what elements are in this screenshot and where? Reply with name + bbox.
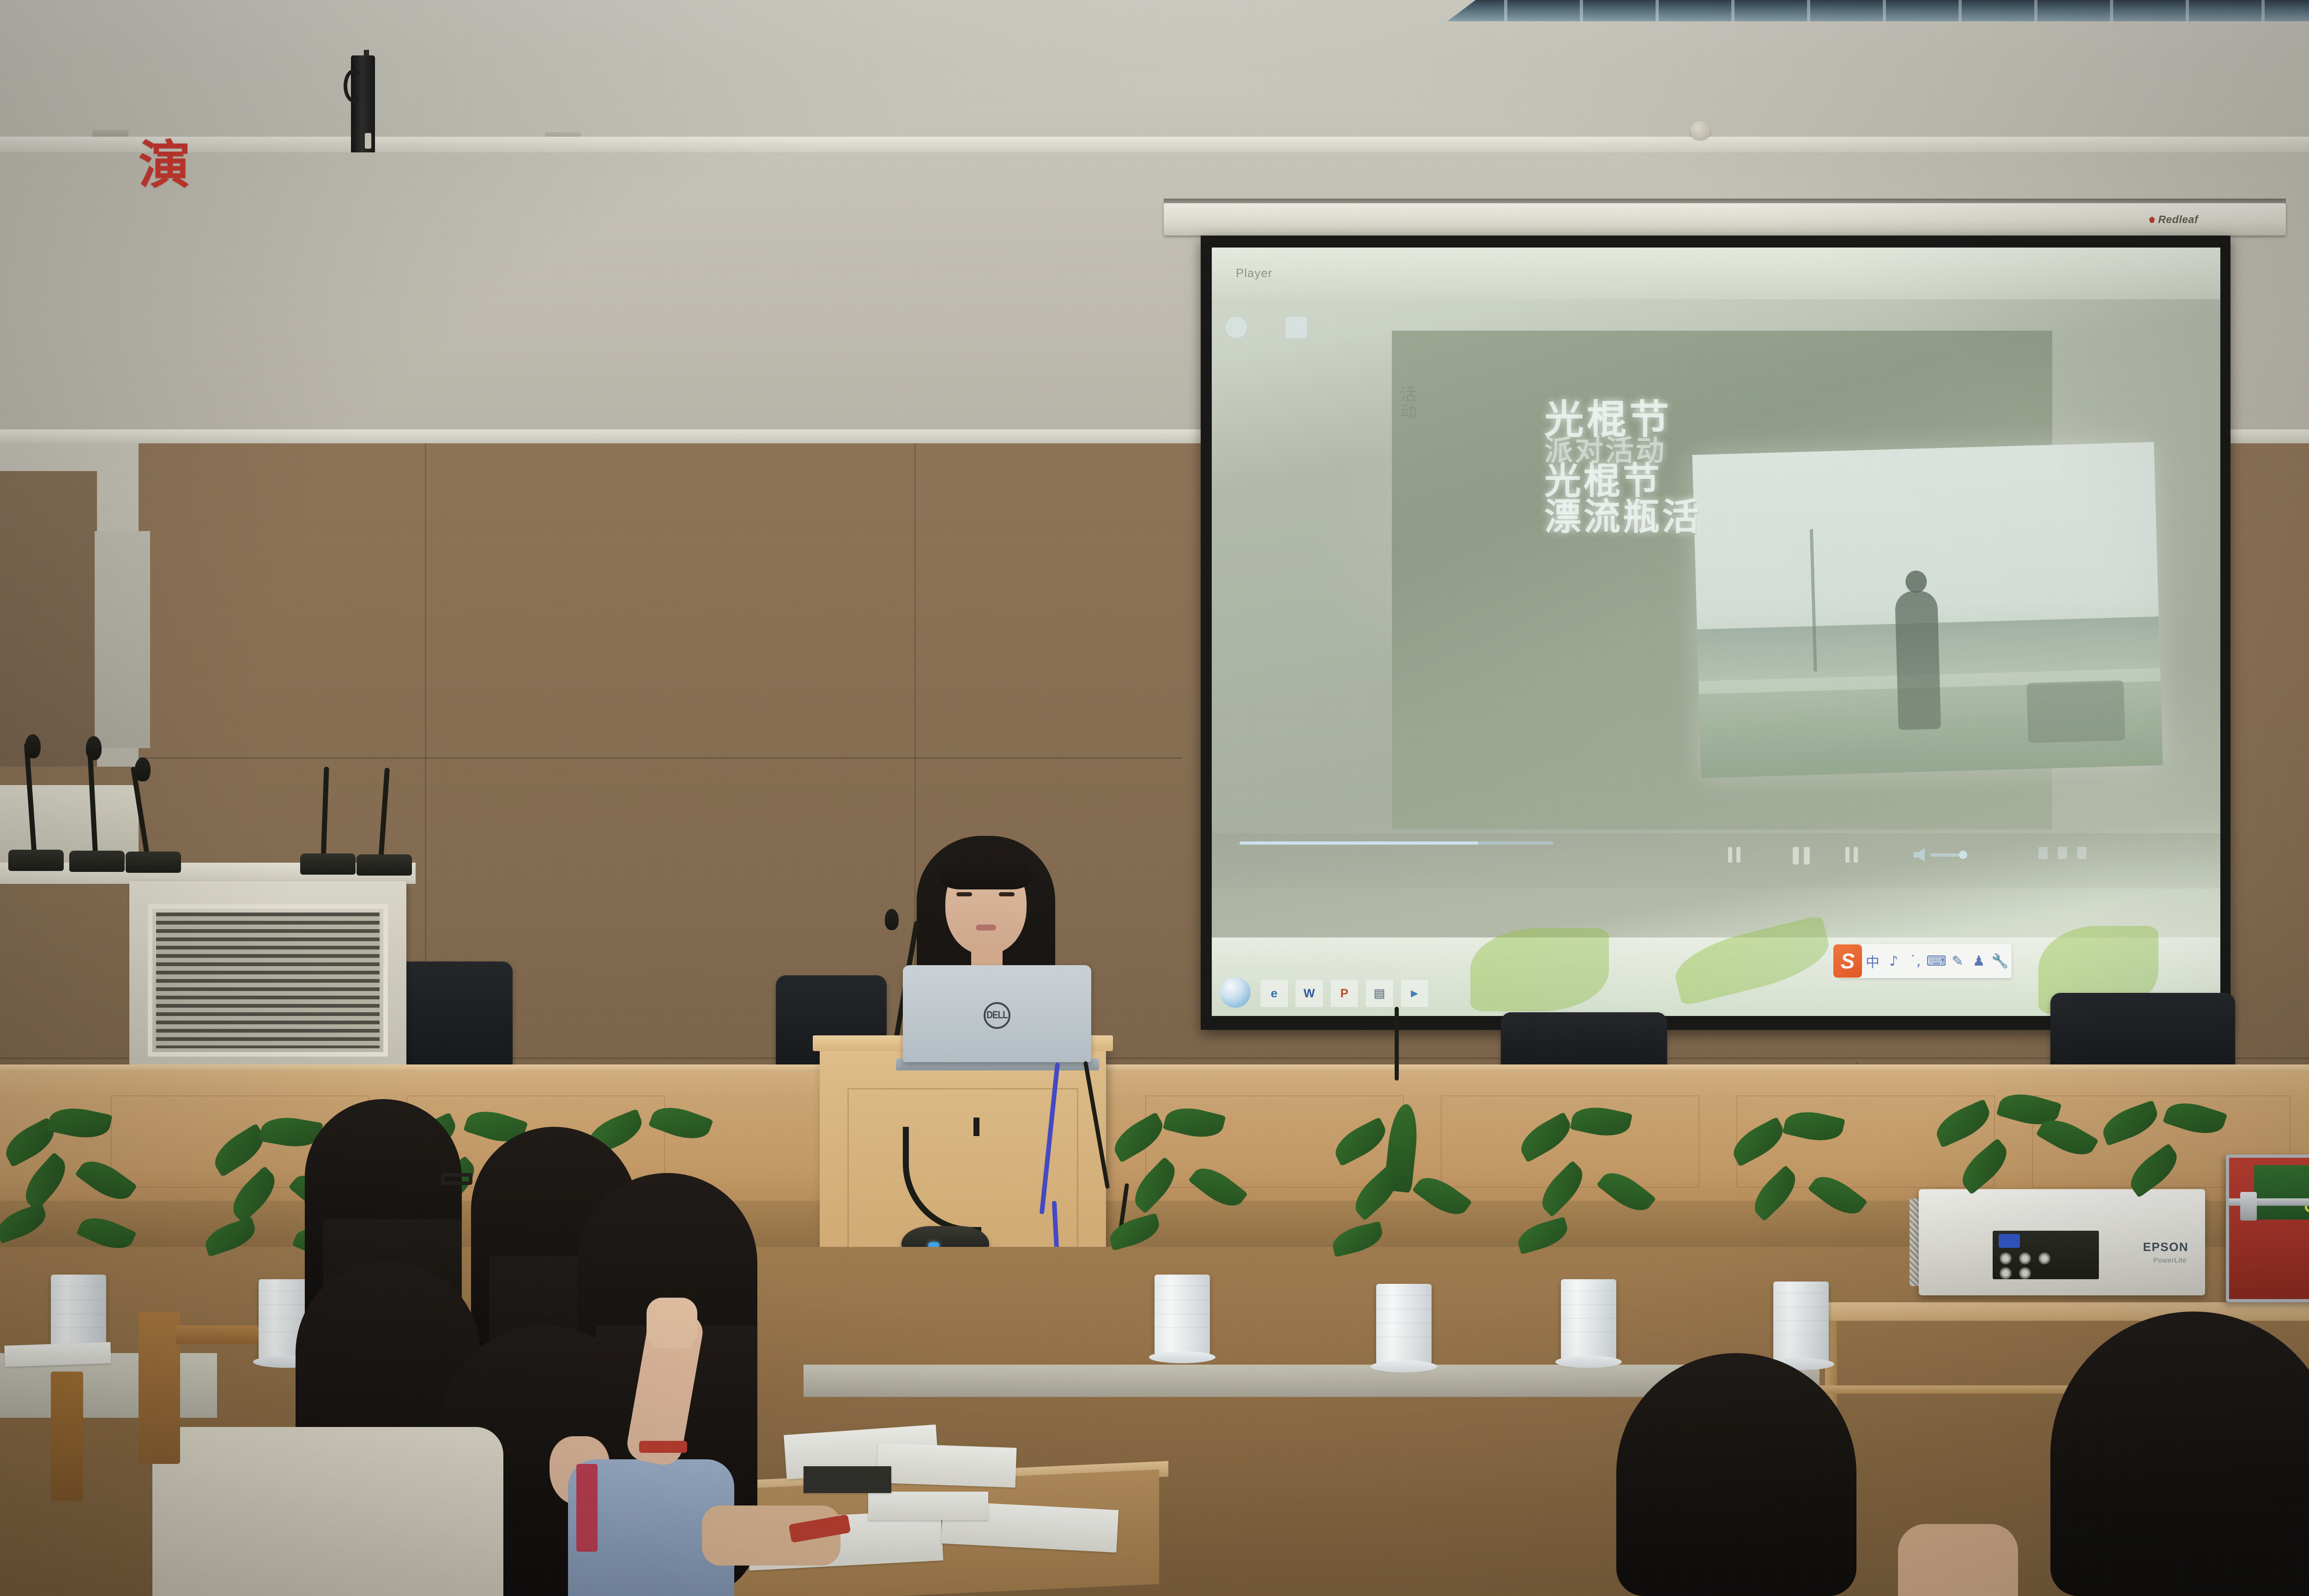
seek-bar[interactable] [1239,841,1553,845]
skylight-bars [1447,0,2309,21]
epson-brand-label: EPSON [2143,1240,2188,1254]
wooden-chair-rail [175,1325,259,1344]
lecture-hall-photo: Redleaf Player 活动 [0,0,2309,1596]
ceiling-mic-indicator [365,133,371,149]
desk-microphone-base [357,854,412,876]
seek-progress [1239,841,1478,845]
taskbar-item-browser[interactable]: e [1260,979,1288,1008]
overlay-line-4: 漂流瓶活 [1544,498,1803,536]
plant-pot [1561,1279,1616,1362]
window-icon[interactable] [1286,317,1307,338]
projector-rca-port [2038,1252,2050,1264]
audience-shoulder [1898,1524,2018,1596]
playlist-icon[interactable] [2058,847,2067,859]
desk-object [804,1466,891,1493]
sogou-logo-icon[interactable]: S [1833,944,1862,978]
pot-ridges [51,1286,106,1341]
window-icon[interactable] [1226,317,1247,338]
flight-case-latch[interactable] [2240,1192,2257,1221]
audience-lanyard [576,1464,598,1552]
projection-surface: Player 活动 光棍节 派对活动 光棍节 漂流瓶活 [1212,248,2220,1016]
redleaf-brand-label: Redleaf [2158,213,2198,226]
redleaf-brand-mark: Redleaf [2149,213,2198,226]
ime-keyboard-icon[interactable]: ⌨ [1926,953,1947,969]
podium-microphone-head [885,909,899,930]
presenter-eye [999,892,1015,896]
presenter-fringe [941,845,1031,889]
projection-screen: Player 活动 光棍节 派对活动 光棍节 漂流瓶活 [1201,236,2230,1030]
projector-vga-port [1999,1234,2020,1248]
ceiling-mic-clip [344,69,364,103]
projection-screen-housing: Redleaf [1164,203,2286,236]
desk-microphone-base [69,851,125,872]
previous-button-arrow[interactable] [1736,847,1741,863]
desk-microphone-base [300,853,356,875]
player-right-icons[interactable] [2038,847,2086,859]
desk-microphone-base [126,852,181,873]
pause-button[interactable] [1793,847,1799,864]
audience-head [1616,1353,1856,1596]
video-side-caption: 活动 [1400,386,1419,421]
plant-pot [1376,1284,1432,1367]
skylight-strip [1447,0,2309,21]
presenter-eye [956,892,972,896]
desk-microphone-head [135,757,151,781]
ime-handwriting-icon[interactable]: ✎ [1947,953,1968,969]
desk-microphone-base [8,850,64,871]
ceiling-dome-light [1690,121,1711,139]
taskbar-item-word[interactable]: W [1295,979,1324,1008]
projector-rca-port [2000,1267,2012,1279]
audience-sweater [152,1427,503,1596]
overlay-line-3: 光棍节 [1544,462,1803,500]
stage-chair [2050,993,2235,1075]
audience-hand [647,1298,697,1348]
screen-cable [1395,1007,1399,1081]
audience-glasses [441,1173,472,1185]
start-button[interactable] [1220,977,1251,1008]
desk-microphone-head [25,734,41,758]
plant-pot [1773,1282,1829,1365]
video-overlay-title: 光棍节 派对活动 光棍节 漂流瓶活 [1544,400,1803,536]
podium-chinese-character: 演 [139,139,190,193]
ime-settings-icon[interactable]: 🔧 [1989,953,2011,969]
podium-mic-upper-stem [973,1118,979,1136]
dell-logo-icon: DELL [984,1002,1010,1029]
left-wall-panel [95,531,150,748]
taskbar-item-folder[interactable]: ▤ [1365,979,1394,1008]
speaker-icon[interactable] [1914,848,1925,862]
ime-language-mode[interactable]: 中 [1862,951,1883,971]
wall-seam [0,757,1182,759]
next-button-arrow[interactable] [1854,847,1858,863]
wooden-chair-back [139,1312,180,1464]
pot-ridges [1154,1286,1210,1341]
air-conditioner-unit [148,904,388,1057]
wooden-chair-leg [51,1372,83,1501]
media-player-controls [1212,833,2220,889]
ime-skin-icon[interactable]: ♟ [1968,953,1989,969]
taskbar-item-player[interactable]: ► [1400,979,1429,1008]
fullscreen-icon[interactable] [2038,847,2048,859]
redleaf-leaf-icon [2149,217,2155,223]
taskbar-item-powerpoint[interactable]: P [1330,979,1359,1008]
paper-sheet [868,1492,988,1520]
presenter-mouth [976,925,996,931]
photo-object [2026,680,2125,743]
plant-pot [1154,1275,1210,1358]
player-window-titlebar: Player [1212,248,2220,299]
settings-icon[interactable] [2077,847,2086,859]
next-button[interactable] [1845,847,1850,863]
projector-rca-port [2019,1267,2031,1279]
projector-rca-port [2019,1252,2031,1264]
pot-ridges [1376,1295,1432,1350]
photo-person [1895,590,1941,730]
previous-button[interactable] [1728,847,1732,863]
left-doorway [0,471,97,767]
projector-model-label: PowerLite [2153,1257,2187,1264]
wallpaper-leaf [1470,928,1609,1011]
stage-chair [388,961,513,1072]
audience-wristband [639,1441,687,1453]
sogou-ime-toolbar[interactable]: S 中 ♪ ˙, ⌨ ✎ ♟ 🔧 [1840,944,2012,978]
laptop[interactable]: DELL [903,965,1091,1062]
dell-logo-text: DELL [986,1010,1008,1022]
ceiling-lip [0,137,2309,152]
ime-punctuation-icon[interactable]: ˙, [1904,953,1926,969]
paper-sheet [4,1342,111,1367]
air-conditioner-louvers [156,913,380,1048]
paper-sheet [877,1443,1017,1487]
player-window-title: Player [1236,266,1273,280]
flight-case-label [2254,1165,2309,1220]
overlay-line-2: 派对活动 [1544,436,1803,465]
pause-button[interactable] [1804,847,1810,864]
projector-rca-port [2000,1252,2012,1264]
pot-ridges [1561,1290,1616,1346]
equipment-flight-case [2226,1155,2309,1302]
pot-ridges [1773,1293,1829,1348]
desk-microphone-head [86,736,102,760]
volume-knob[interactable] [1959,851,1967,859]
ime-tone-icon[interactable]: ♪ [1883,953,1904,969]
